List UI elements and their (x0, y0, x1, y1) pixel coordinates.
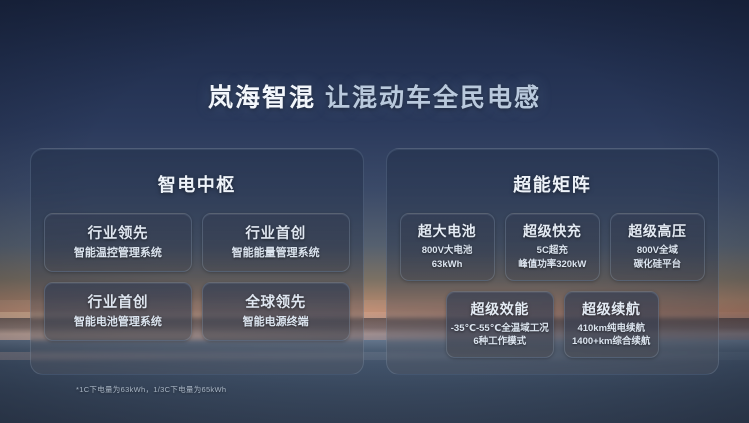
panel-right-heading: 超能矩阵 (400, 171, 706, 197)
card-sub: 410km纯电续航 1400+km综合续航 (569, 322, 654, 350)
slide-title: 岚海智混 让混动车全民电感 (0, 78, 749, 114)
card-super-high-voltage[interactable]: 超级高压 800V全域 碳化硅平台 (610, 213, 705, 281)
card-sub-line: 智能温控管理系统 (48, 246, 188, 262)
card-head: 行业首创 (48, 291, 188, 312)
card-sub-line: 智能电源终端 (206, 315, 346, 331)
card-sub-line: 峰值功率320kW (510, 258, 595, 272)
card-head: 超级快充 (510, 221, 595, 241)
card-sub: 智能能量管理系统 (206, 246, 346, 262)
card-global-leading-power-terminal[interactable]: 全球领先 智能电源终端 (202, 282, 350, 341)
panel-smart-electric-hub: 智电中枢 行业领先 智能温控管理系统 行业首创 智能能量管理系统 行 (30, 148, 364, 375)
panel-right-row-1: 超大电池 800V大电池 63kWh 超级快充 5C超充 峰值功率320kW 超… (400, 213, 706, 281)
card-industry-first-energy[interactable]: 行业首创 智能能量管理系统 (202, 213, 350, 272)
card-sub: 智能温控管理系统 (48, 246, 188, 262)
card-sub-line: 6种工作模式 (451, 335, 549, 349)
panel-left-heading: 智电中枢 (44, 171, 350, 197)
card-head: 超大电池 (405, 221, 490, 241)
card-sub: 800V全域 碳化硅平台 (615, 244, 700, 272)
card-sub-line: -35℃-55℃全温域工况 (451, 322, 549, 336)
card-super-range[interactable]: 超级续航 410km纯电续航 1400+km综合续航 (564, 291, 659, 359)
card-sub: 5C超充 峰值功率320kW (510, 244, 595, 272)
card-sub: 智能电池管理系统 (48, 315, 188, 331)
card-head: 行业首创 (206, 222, 346, 243)
card-industry-first-battery[interactable]: 行业首创 智能电池管理系统 (44, 282, 192, 341)
slide-title-brand: 岚海智混 (208, 84, 316, 112)
card-sub-line: 碳化硅平台 (615, 258, 700, 272)
card-head: 超级效能 (451, 299, 549, 319)
card-sub-line: 智能电池管理系统 (48, 315, 188, 331)
card-sub-line: 智能能量管理系统 (206, 246, 346, 262)
card-sub-line: 63kWh (405, 258, 490, 272)
panels-container: 智电中枢 行业领先 智能温控管理系统 行业首创 智能能量管理系统 行 (30, 148, 719, 375)
card-sub-line: 1400+km综合续航 (569, 335, 654, 349)
card-head: 超级高压 (615, 221, 700, 241)
card-sub-line: 5C超充 (510, 244, 595, 258)
card-sub-line: 410km纯电续航 (569, 322, 654, 336)
panel-super-matrix: 超能矩阵 超大电池 800V大电池 63kWh 超级快充 5C超充 峰值功率32… (386, 148, 720, 375)
presentation-slide: 岚海智混 让混动车全民电感 智电中枢 行业领先 智能温控管理系统 行业首创 智能… (0, 0, 749, 423)
card-sub: 800V大电池 63kWh (405, 244, 490, 272)
card-industry-leading-thermal[interactable]: 行业领先 智能温控管理系统 (44, 213, 192, 272)
card-sub: 智能电源终端 (206, 315, 346, 331)
panel-left-row-1: 行业领先 智能温控管理系统 行业首创 智能能量管理系统 (44, 213, 350, 272)
card-head: 全球领先 (206, 291, 346, 312)
slide-title-tagline: 让混动车全民电感 (325, 84, 541, 112)
card-super-fast-charging[interactable]: 超级快充 5C超充 峰值功率320kW (505, 213, 600, 281)
card-sub-line: 800V大电池 (405, 244, 490, 258)
card-head: 行业领先 (48, 222, 188, 243)
footnote-disclaimer: *1C下电量为63kWh，1/3C下电量为65kWh (76, 384, 226, 395)
card-head: 超级续航 (569, 299, 654, 319)
card-super-large-battery[interactable]: 超大电池 800V大电池 63kWh (400, 213, 495, 281)
card-sub: -35℃-55℃全温域工况 6种工作模式 (451, 322, 549, 350)
panel-right-row-2: 超级效能 -35℃-55℃全温域工况 6种工作模式 超级续航 410km纯电续航… (400, 291, 706, 359)
card-sub-line: 800V全域 (615, 244, 700, 258)
card-super-efficiency[interactable]: 超级效能 -35℃-55℃全温域工况 6种工作模式 (446, 291, 554, 359)
panel-left-row-2: 行业首创 智能电池管理系统 全球领先 智能电源终端 (44, 282, 350, 341)
